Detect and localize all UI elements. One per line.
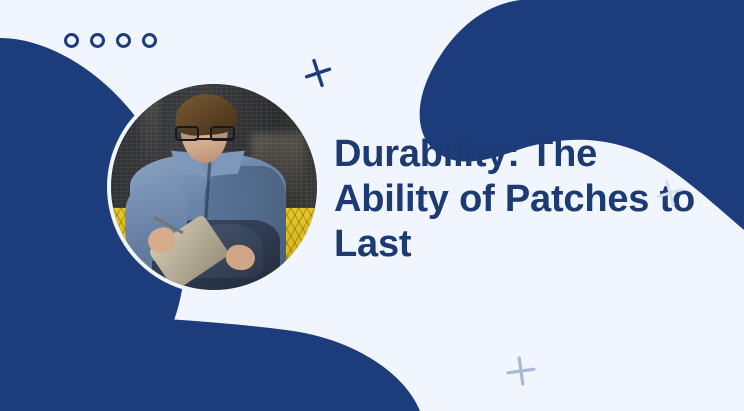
ring-dot-icon — [90, 33, 105, 48]
portrait-photo — [107, 80, 321, 294]
cross-icon-top — [303, 57, 333, 89]
photo-wall-highlight-secondary — [140, 92, 161, 170]
portrait-photo-image — [111, 84, 317, 290]
photo-glasses — [175, 126, 235, 140]
bottom-navy-blob — [0, 300, 420, 411]
ring-dot-icon — [116, 33, 131, 48]
slide-canvas: Durability: The Ability of Patches to La… — [0, 0, 744, 411]
cross-icon-bottom — [505, 355, 537, 387]
ring-dot-icon — [64, 33, 79, 48]
ring-dots — [64, 33, 157, 48]
photo-glasses-lens-right — [210, 126, 234, 140]
ring-dot-icon — [142, 33, 157, 48]
photo-glasses-lens-left — [175, 126, 199, 140]
cross-icon-middle — [655, 178, 685, 208]
